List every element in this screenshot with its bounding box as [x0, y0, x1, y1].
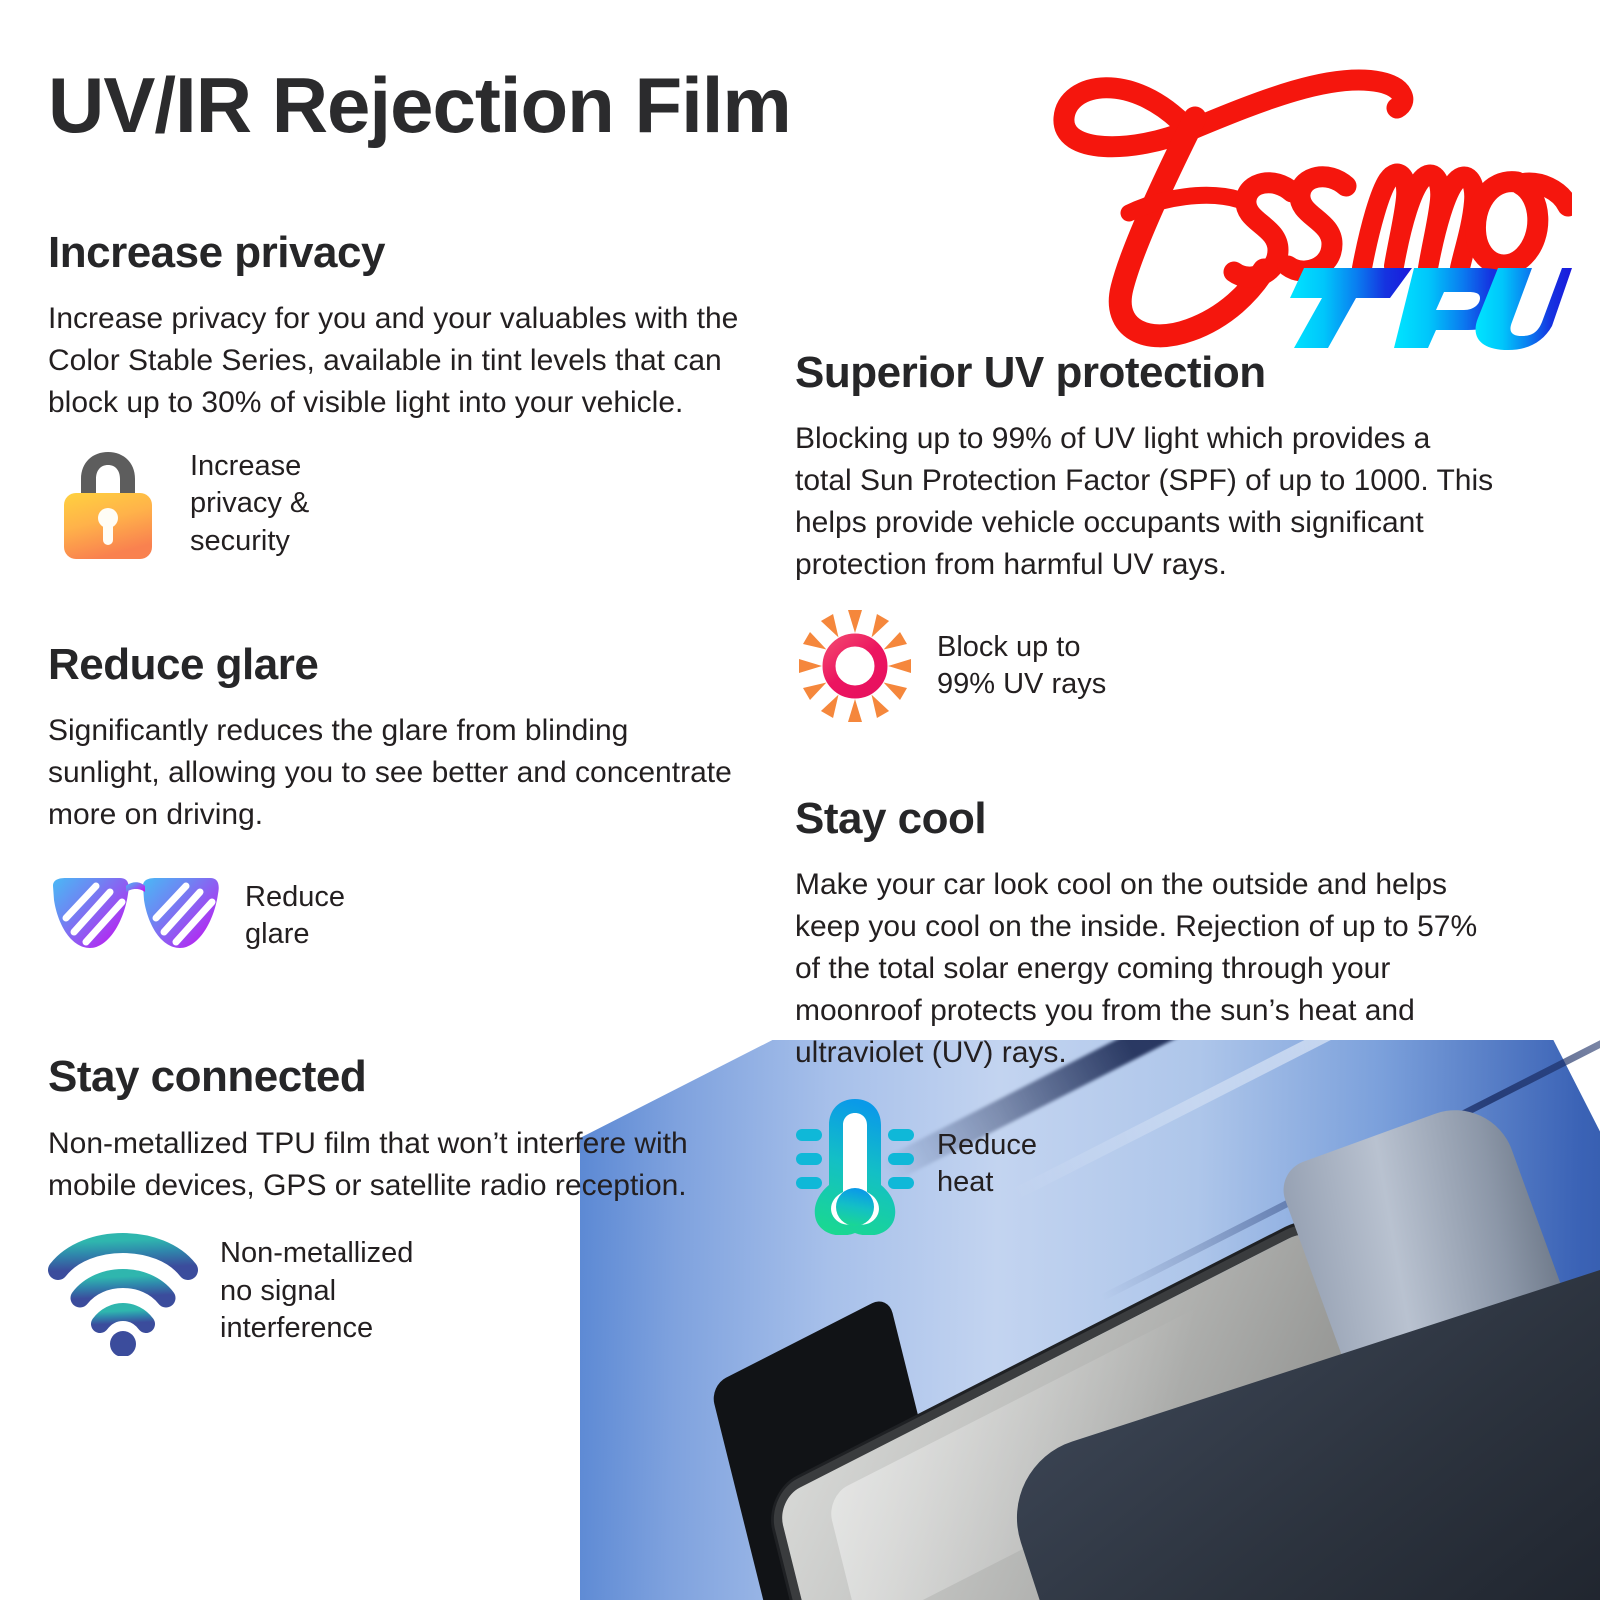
section-stay-connected: Stay connected Non-metallized TPU film t…: [48, 1054, 748, 1356]
tpu-wordmark: [1290, 268, 1572, 350]
infographic-page: UV/IR Rejection Film: [0, 0, 1600, 1600]
body-increase-privacy: Increase privacy for you and your valuab…: [48, 298, 748, 424]
icon-label-superior-uv-protection: Block up to 99% UV rays: [937, 629, 1106, 704]
icon-label-reduce-glare: Reduce glare: [245, 879, 345, 954]
icon-label-stay-cool: Reduce heat: [937, 1127, 1037, 1202]
lock-icon: [48, 444, 168, 564]
spacer: [795, 726, 1495, 796]
right-column: Superior UV protection Blocking up to 99…: [795, 350, 1495, 1234]
body-reduce-glare: Significantly reduces the glare from bli…: [48, 710, 748, 836]
section-reduce-glare: Reduce glare Significantly reduces the g…: [48, 642, 748, 976]
left-column: Increase privacy Increase privacy for yo…: [48, 230, 748, 1357]
sunglasses-icon: [48, 856, 223, 976]
spacer: [48, 976, 748, 1054]
wifi-icon: [48, 1227, 198, 1357]
icon-row-increase-privacy: Increase privacy & security: [48, 444, 748, 564]
icon-label-stay-connected: Non-metallized no signal interference: [220, 1235, 413, 1348]
body-stay-cool: Make your car look cool on the outside a…: [795, 864, 1495, 1074]
car-dark-edge: [996, 1250, 1600, 1600]
icon-row-superior-uv-protection: Block up to 99% UV rays: [795, 606, 1495, 726]
moonroof-gloss: [826, 1261, 1324, 1600]
body-stay-connected: Non-metallized TPU film that won’t inter…: [48, 1123, 748, 1207]
logo-svg: [1012, 30, 1572, 350]
thermometer-icon: [795, 1094, 915, 1234]
icon-row-stay-cool: Reduce heat: [795, 1094, 1495, 1234]
heading-stay-connected: Stay connected: [48, 1054, 748, 1100]
page-title: UV/IR Rejection Film: [48, 60, 791, 151]
section-increase-privacy: Increase privacy Increase privacy for yo…: [48, 230, 748, 564]
icon-row-stay-connected: Non-metallized no signal interference: [48, 1227, 748, 1357]
icon-label-increase-privacy: Increase privacy & security: [190, 448, 309, 561]
heading-increase-privacy: Increase privacy: [48, 230, 748, 276]
body-superior-uv-protection: Blocking up to 99% of UV light which pro…: [795, 418, 1495, 586]
spacer: [48, 564, 748, 642]
heading-reduce-glare: Reduce glare: [48, 642, 748, 688]
section-superior-uv-protection: Superior UV protection Blocking up to 99…: [795, 350, 1495, 726]
sun-rays: [799, 610, 911, 722]
heading-superior-uv-protection: Superior UV protection: [795, 350, 1495, 396]
essmo-tpu-logo: [1012, 30, 1572, 350]
sun-icon: [795, 606, 915, 726]
heading-stay-cool: Stay cool: [795, 796, 1495, 842]
section-stay-cool: Stay cool Make your car look cool on the…: [795, 796, 1495, 1234]
moonroof-glass: [777, 1218, 1414, 1600]
icon-row-reduce-glare: Reduce glare: [48, 856, 748, 976]
